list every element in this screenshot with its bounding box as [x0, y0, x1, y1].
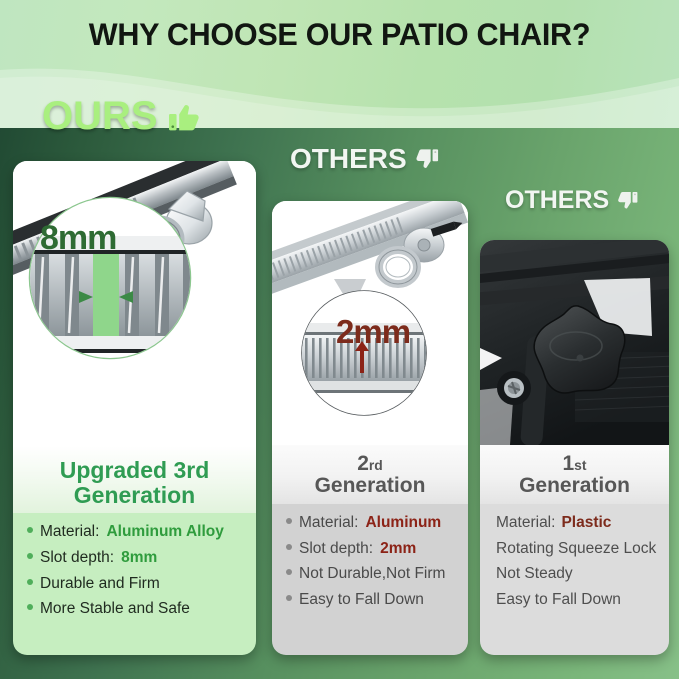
measure-label-8mm: 8mm [40, 219, 116, 258]
thumbs-down-icon [414, 146, 441, 173]
list-item: Material: Plastic [496, 510, 669, 536]
generation-line-1: Upgraded 3rd [13, 458, 256, 483]
plastic-knob-photo [480, 240, 669, 445]
generation-suffix: rd [369, 457, 383, 473]
feature-label: Easy to Fall Down [496, 587, 621, 613]
others-label-text-2: OTHERS [505, 188, 609, 213]
generation-label-ours: Upgraded 3rd Generation [13, 446, 256, 513]
feature-value: Plastic [561, 510, 611, 536]
bullet-dot-icon [286, 544, 292, 550]
generation-line-1: 2rd [272, 453, 468, 475]
bullet-dot-icon [286, 569, 292, 575]
feature-label: More Stable and Safe [40, 596, 190, 622]
feature-label: Slot depth: [299, 536, 373, 562]
product-photo-other-2 [480, 240, 669, 445]
generation-number: 1 [562, 452, 574, 475]
generation-number: 2 [357, 452, 369, 475]
generation-line-2: Generation [480, 475, 669, 497]
generation-line-2: Generation [13, 483, 256, 508]
generation-label-other-2: 1st Generation [480, 445, 669, 504]
section-label-ours: OURS [42, 96, 202, 136]
feature-label: Slot depth: [40, 545, 114, 571]
product-photo-other-1: 2mm [272, 201, 468, 445]
comparison-infographic: WHY CHOOSE OUR PATIO CHAIR? OURS OTHERS … [0, 0, 679, 679]
bullet-dot-icon [27, 527, 33, 533]
list-item: Easy to Fall Down [496, 587, 669, 613]
feature-list-other-2: Material: Plastic Rotating Squeeze Lock … [480, 504, 669, 655]
list-item: Rotating Squeeze Lock [496, 536, 669, 562]
feature-value: 2mm [380, 536, 416, 562]
list-item: Material: Aluminum Alloy [27, 519, 256, 545]
feature-list-ours: Material: Aluminum Alloy Slot depth: 8mm… [13, 513, 256, 655]
section-label-others-1: OTHERS [290, 145, 441, 173]
list-item: Not Steady [496, 561, 669, 587]
bullet-dot-icon [286, 595, 292, 601]
others-label-text-1: OTHERS [290, 145, 407, 173]
generation-suffix: st [574, 457, 586, 473]
list-item: Not Durable,Not Firm [286, 561, 468, 587]
generation-line-2: Generation [272, 475, 468, 497]
feature-list-other-1: Material: Aluminum Slot depth: 2mm Not D… [272, 504, 468, 655]
rail-8mm-illustration [13, 161, 256, 446]
generation-label-other-1: 2rd Generation [272, 445, 468, 504]
generation-line-1: 1st [480, 453, 669, 475]
feature-label: Easy to Fall Down [299, 587, 424, 613]
section-label-others-2: OTHERS [505, 188, 640, 213]
feature-label: Material: [40, 519, 99, 545]
list-item: Durable and Firm [27, 571, 256, 597]
list-item: More Stable and Safe [27, 596, 256, 622]
feature-label: Material: [496, 510, 555, 536]
feature-label: Not Durable,Not Firm [299, 561, 445, 587]
ours-label-text: OURS [42, 96, 158, 136]
feature-label: Durable and Firm [40, 571, 160, 597]
bullet-dot-icon [27, 604, 33, 610]
product-photo-ours: 8mm [13, 161, 256, 446]
feature-value: Aluminum [365, 510, 441, 536]
list-item: Slot depth: 2mm [286, 536, 468, 562]
thumbs-down-icon [616, 189, 640, 213]
feature-value: Aluminum Alloy [106, 519, 223, 545]
list-item: Easy to Fall Down [286, 587, 468, 613]
list-item: Material: Aluminum [286, 510, 468, 536]
card-other-2: 1st Generation Material: Plastic Rotatin… [480, 240, 669, 655]
page-title: WHY CHOOSE OUR PATIO CHAIR? [10, 16, 669, 53]
list-item: Slot depth: 8mm [27, 545, 256, 571]
card-ours: 8mm Upgraded 3rd Generation Material: Al… [13, 161, 256, 655]
bullet-dot-icon [27, 553, 33, 559]
feature-value: 8mm [121, 545, 157, 571]
feature-label: Not Steady [496, 561, 573, 587]
bullet-dot-icon [286, 518, 292, 524]
thumbs-up-icon [165, 98, 202, 135]
feature-label: Rotating Squeeze Lock [496, 536, 656, 562]
card-other-1: 2mm 2rd Generation Material: Aluminum Sl… [272, 201, 468, 655]
measure-label-2mm: 2mm [336, 313, 410, 351]
bullet-dot-icon [27, 579, 33, 585]
feature-label: Material: [299, 510, 358, 536]
